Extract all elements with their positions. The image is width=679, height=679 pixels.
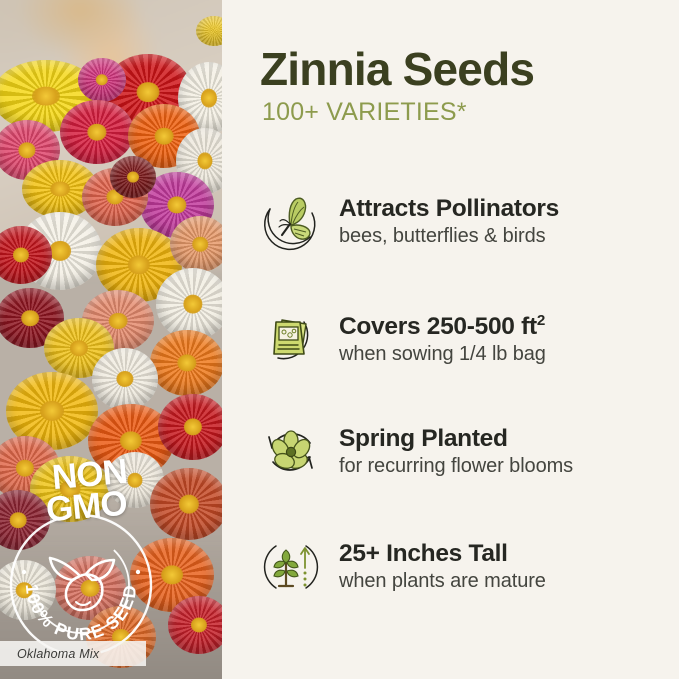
pure-seed-seal: 100% PURE SEED [6, 510, 156, 660]
bloom-peach-1 [170, 216, 222, 272]
feature-text: 25+ Inches Tall when plants are mature [339, 539, 670, 595]
seed-sprout-icon: 100% PURE SEED [6, 510, 156, 660]
feature-row: Spring Planted for recurring flower bloo… [260, 416, 670, 488]
feature-title: 25+ Inches Tall [339, 539, 670, 568]
feature-text: Spring Planted for recurring flower bloo… [339, 424, 670, 480]
feature-text: Attracts Pollinators bees, butterflies &… [339, 194, 670, 250]
svg-text:100% PURE SEED: 100% PURE SEED [22, 583, 141, 645]
photo-caption-text: Oklahoma Mix [0, 647, 99, 661]
feature-subtitle: when plants are mature [339, 568, 670, 595]
bloom-orange-2 [150, 330, 222, 396]
feature-title-superscript: 2 [537, 312, 545, 329]
feature-list: Attracts Pollinators bees, butterflies &… [260, 186, 670, 603]
feature-title: Covers 250-500 ft2 [339, 306, 670, 341]
feature-row: Covers 250-500 ft2 when sowing 1/4 lb ba… [260, 301, 670, 373]
bloom-red-4 [168, 596, 222, 654]
feature-title-main: Covers 250-500 ft [339, 313, 537, 340]
feature-title: Attracts Pollinators [339, 194, 670, 223]
feature-text: Covers 250-500 ft2 when sowing 1/4 lb ba… [339, 306, 670, 368]
plant-height-icon [260, 536, 322, 598]
feature-row: 25+ Inches Tall when plants are mature [260, 531, 670, 603]
photo-caption-bar: Oklahoma Mix [0, 641, 146, 666]
bloom-darkred-1 [110, 156, 156, 198]
feature-subtitle: when sowing 1/4 lb bag [339, 341, 670, 368]
bloom-magenta-1 [78, 58, 126, 102]
title-block: Zinnia Seeds 100+ VARIETIES* [260, 44, 534, 127]
seed-packet-icon [260, 306, 322, 368]
bloom-yellow-small-top [196, 16, 222, 46]
feature-subtitle: for recurring flower blooms [339, 453, 670, 480]
product-marketing-image: NON GMO [0, 0, 679, 679]
flower-cycle-icon [260, 421, 322, 483]
non-gmo-badge: NON GMO [6, 452, 176, 652]
feature-title: Spring Planted [339, 424, 670, 453]
page-title: Zinnia Seeds [260, 44, 534, 94]
seal-text: 100% PURE SEED [22, 583, 141, 645]
bloom-red-3 [158, 394, 222, 460]
bloom-crimson-1 [60, 100, 134, 164]
butterfly-icon [260, 191, 322, 253]
product-subtitle: 100+ VARIETIES* [262, 98, 534, 127]
bloom-white-5 [92, 348, 158, 410]
product-photo: NON GMO [0, 0, 222, 679]
feature-subtitle: bees, butterflies & birds [339, 223, 670, 250]
feature-row: Attracts Pollinators bees, butterflies &… [260, 186, 670, 258]
content-panel: Zinnia Seeds 100+ VARIETIES* [222, 0, 679, 679]
